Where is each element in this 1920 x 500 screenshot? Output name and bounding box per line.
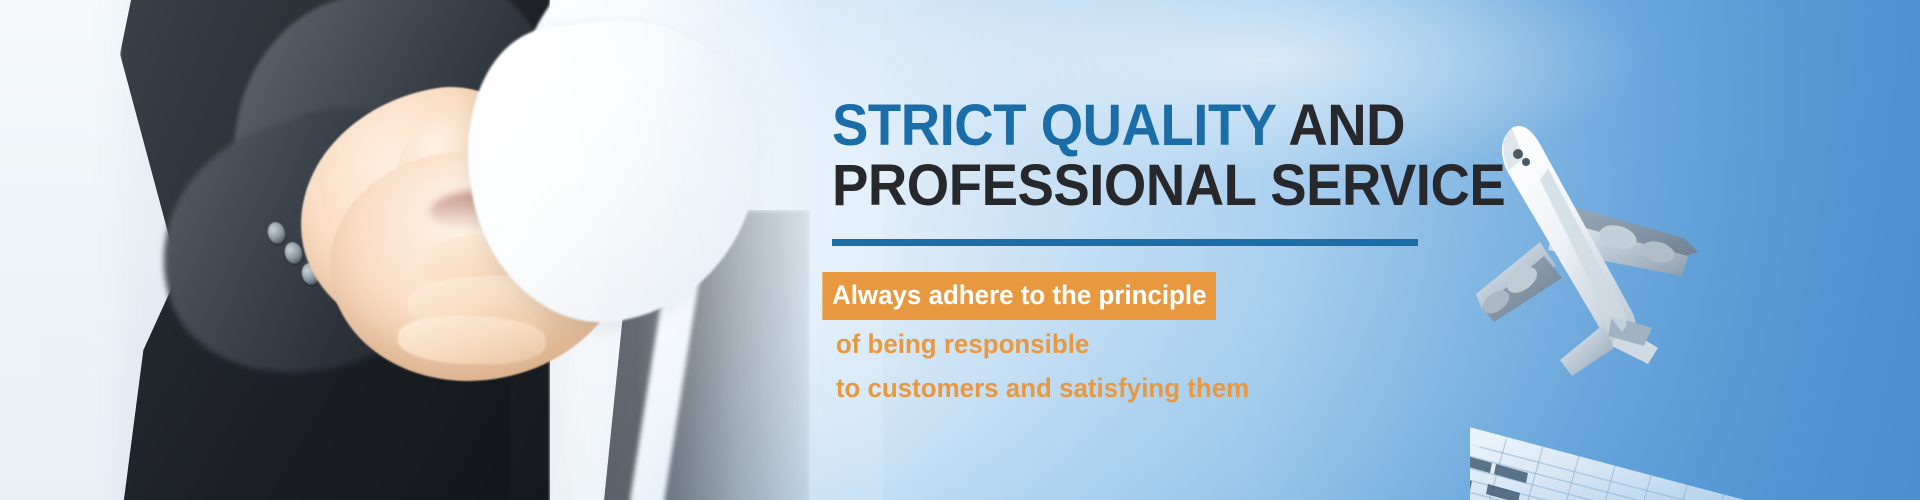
headline-highlight: STRICT QUALITY bbox=[832, 93, 1276, 158]
subtitle-line3: to customers and satisfying them bbox=[832, 369, 1523, 408]
headline-rest: AND bbox=[1276, 93, 1405, 158]
handshake-photo bbox=[0, 0, 860, 500]
promo-banner: STRICT QUALITY AND PROFESSIONAL SERVICE … bbox=[0, 0, 1920, 500]
page-title: STRICT QUALITY AND PROFESSIONAL SERVICE bbox=[832, 96, 1509, 217]
headline-line2: PROFESSIONAL SERVICE bbox=[832, 153, 1505, 218]
subtitle-line2: of being responsible bbox=[832, 325, 1523, 364]
divider bbox=[832, 239, 1418, 246]
banner-subtitle: Always adhere to the principle of being … bbox=[832, 272, 1523, 408]
banner-copy: STRICT QUALITY AND PROFESSIONAL SERVICE … bbox=[832, 96, 1552, 408]
subtitle-highlight: Always adhere to the principle bbox=[822, 272, 1216, 320]
